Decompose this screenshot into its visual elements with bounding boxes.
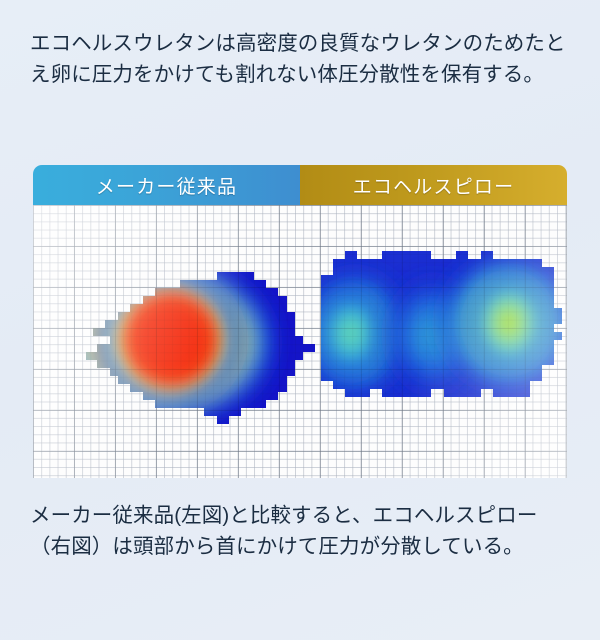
pressure-heatmap-svg bbox=[33, 205, 567, 478]
heatmap-maker-conventional bbox=[57, 260, 333, 440]
header-label-maker-conventional: メーカー従来品 bbox=[33, 165, 300, 205]
header-label-eco-health-pillow: エコヘルスピロー bbox=[300, 165, 567, 205]
pressure-map-panel bbox=[33, 205, 567, 478]
conclusion-text: メーカー従来品(左図)と比較すると、エコヘルスピロー（右図）は頭部から首にかけて… bbox=[30, 500, 575, 562]
heatmap-eco-health-pillow bbox=[303, 245, 567, 405]
comparison-infographic: エコヘルスウレタンは高密度の良質なウレタンのためたとえ卵に圧力をかけても割れない… bbox=[0, 0, 600, 640]
panel-header-bar: メーカー従来品 エコヘルスピロー bbox=[33, 165, 567, 205]
intro-text: エコヘルスウレタンは高密度の良質なウレタンのためたとえ卵に圧力をかけても割れない… bbox=[30, 28, 575, 90]
